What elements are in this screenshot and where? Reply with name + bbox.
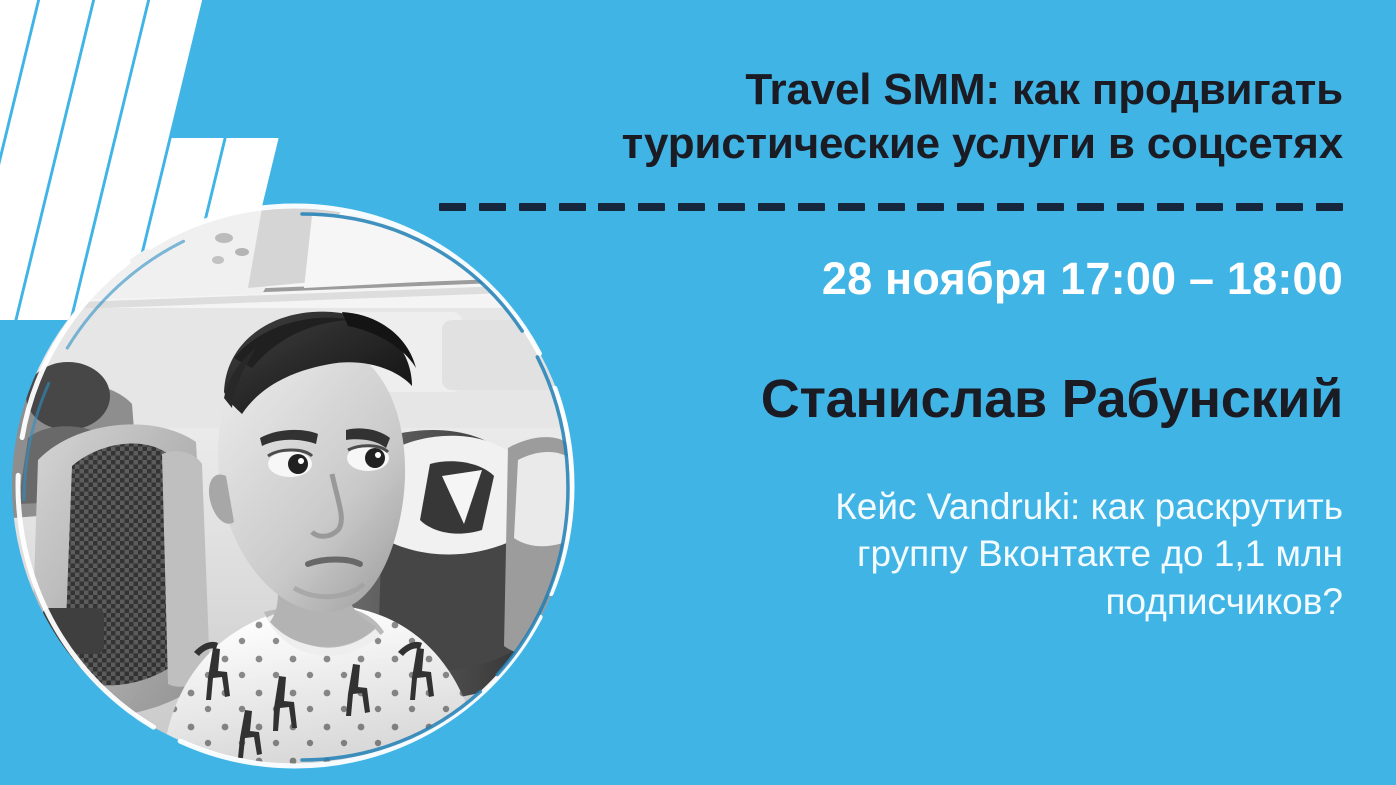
- divider-dash: [1316, 203, 1343, 211]
- session-description: Кейс Vandruki: как раскрутить группу Вко…: [428, 483, 1343, 625]
- divider-dash: [439, 203, 466, 211]
- divider-dash: [957, 203, 984, 211]
- divider-dash: [598, 203, 625, 211]
- divider-dash: [838, 203, 865, 211]
- promo-banner: Travel SMM: как продвигать туристические…: [0, 0, 1396, 785]
- divider-dash: [479, 203, 506, 211]
- description-line-2: группу Вконтакте до 1,1 млн: [428, 530, 1343, 577]
- divider-dash: [718, 203, 745, 211]
- event-datetime: 28 ноября 17:00 – 18:00: [428, 253, 1343, 305]
- divider-dash: [638, 203, 665, 211]
- divider-dash: [678, 203, 705, 211]
- divider-dash: [1037, 203, 1064, 211]
- title-line-2: туристические услуги в соцсетях: [428, 117, 1343, 171]
- page-title: Travel SMM: как продвигать туристические…: [428, 63, 1343, 170]
- description-line-3: подписчиков?: [428, 578, 1343, 625]
- divider-dash: [1196, 203, 1223, 211]
- divider-dash: [878, 203, 905, 211]
- divider-dash: [1276, 203, 1303, 211]
- divider-dash: [519, 203, 546, 211]
- divider-dash: [1157, 203, 1184, 211]
- divider-dash: [997, 203, 1024, 211]
- divider-dash: [1236, 203, 1263, 211]
- divider-dash: [1077, 203, 1104, 211]
- divider-dash: [798, 203, 825, 211]
- divider-dash: [1117, 203, 1144, 211]
- description-line-1: Кейс Vandruki: как раскрутить: [428, 483, 1343, 530]
- speaker-name: Станислав Рабунский: [428, 368, 1343, 430]
- text-column: Travel SMM: как продвигать туристические…: [430, 0, 1345, 785]
- divider-dash: [559, 203, 586, 211]
- title-line-1: Travel SMM: как продвигать: [428, 63, 1343, 117]
- dashed-divider: [439, 203, 1343, 212]
- divider-dash: [917, 203, 944, 211]
- divider-dash: [758, 203, 785, 211]
